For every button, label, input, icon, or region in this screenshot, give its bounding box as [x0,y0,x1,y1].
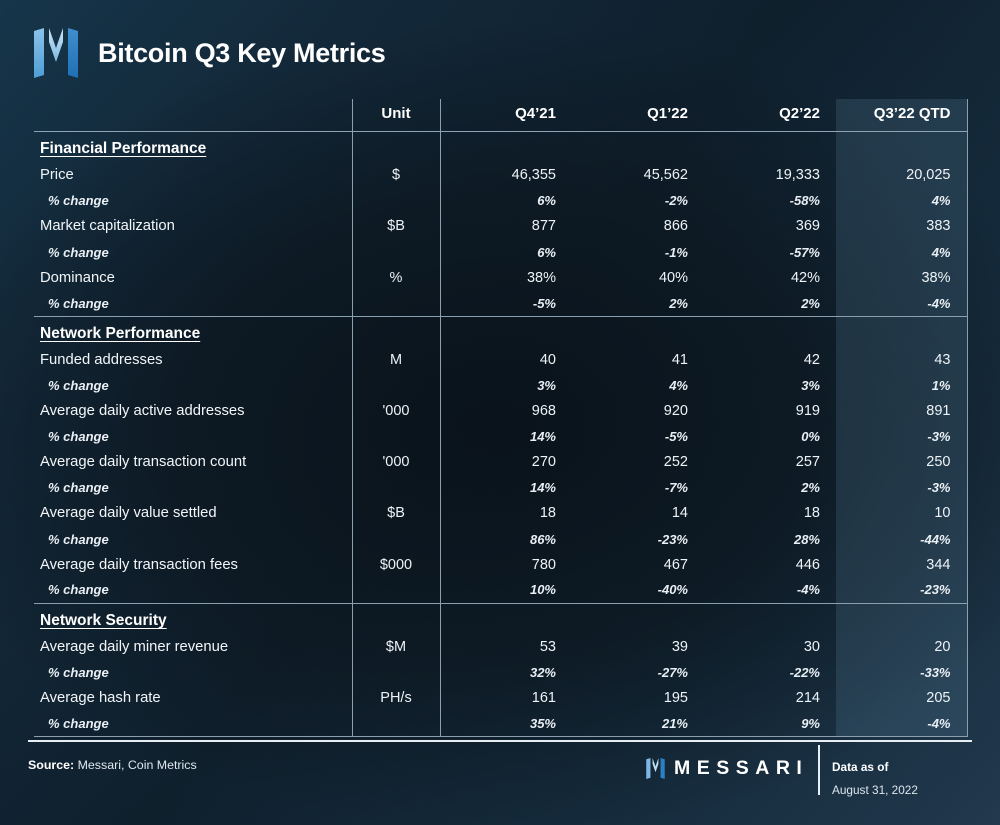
change-value-cell: -22% [704,660,836,686]
table-row: Market capitalization$B877866369383 [34,214,967,240]
data-as-of-label: Data as of [832,760,918,774]
change-label-cell: % change [34,577,352,603]
value-cell: 877 [440,214,572,240]
change-label-cell: % change [34,188,352,214]
value-cell: 161 [440,685,572,711]
unit-cell: $000 [352,552,440,578]
change-value-cell: 3% [704,373,836,399]
section-spacer-cell [572,316,704,347]
change-value-cell: -2% [572,188,704,214]
table-row: Funded addressesM40414243 [34,347,967,373]
footer-brand: MESSARI [646,757,808,780]
page-header: Bitcoin Q3 Key Metrics [34,28,386,78]
value-cell: 344 [836,552,967,578]
value-cell: 19,333 [704,163,836,189]
metric-label-cell: Average daily miner revenue [34,634,352,660]
change-value-cell: 1% [836,373,967,399]
change-value-cell: 21% [572,711,704,737]
change-value-cell: 86% [440,526,572,552]
metric-label-cell: Average daily transaction fees [34,552,352,578]
table-row-change: % change10%-40%-4%-23% [34,577,967,603]
section-header-row: Financial Performance [34,132,967,163]
change-value-cell: 32% [440,660,572,686]
value-cell: 257 [704,449,836,475]
section-spacer-cell [572,603,704,634]
section-title-cell: Network Security [34,603,352,634]
value-cell: 780 [440,552,572,578]
table-row-change: % change35%21%9%-4% [34,711,967,737]
unit-cell [352,526,440,552]
value-cell: 383 [836,214,967,240]
unit-cell [352,577,440,603]
change-value-cell: -33% [836,660,967,686]
metric-label-cell: Dominance [34,265,352,291]
change-label-cell: % change [34,660,352,686]
change-label-cell: % change [34,424,352,450]
value-cell: 41 [572,347,704,373]
table-row-change: % change3%4%3%1% [34,373,967,399]
metrics-table-container: Unit Q4’21 Q1’22 Q2’22 Q3’22 QTD Financi… [34,99,967,737]
section-unit-cell [352,132,440,163]
value-cell: 43 [836,347,967,373]
column-header-unit: Unit [352,99,440,132]
value-cell: 866 [572,214,704,240]
brand-wordmark: MESSARI [674,757,808,780]
footer-divider [28,740,972,742]
change-value-cell: 9% [704,711,836,737]
value-cell: 919 [704,398,836,424]
column-header-q4-21: Q4’21 [440,99,572,132]
value-cell: 18 [440,501,572,527]
metrics-table: Unit Q4’21 Q1’22 Q2’22 Q3’22 QTD Financi… [34,99,968,737]
value-cell: 205 [836,685,967,711]
table-row: Average daily transaction fees$000780467… [34,552,967,578]
change-value-cell: -5% [440,290,572,316]
table-row-change: % change86%-23%28%-44% [34,526,967,552]
change-value-cell: -3% [836,424,967,450]
value-cell: 891 [836,398,967,424]
metric-label-cell: Market capitalization [34,214,352,240]
column-header-q1-22: Q1’22 [572,99,704,132]
table-row: Average hash ratePH/s161195214205 [34,685,967,711]
table-row-change: % change6%-1%-57%4% [34,239,967,265]
value-cell: 195 [572,685,704,711]
section-spacer-cell [704,603,836,634]
value-cell: 39 [572,634,704,660]
value-cell: 45,562 [572,163,704,189]
footer-vertical-divider [818,745,820,795]
data-as-of-date: August 31, 2022 [832,783,918,797]
section-title: Financial Performance [40,140,206,157]
table-row-change: % change6%-2%-58%4% [34,188,967,214]
value-cell: 40% [572,265,704,291]
source-note: Source: Messari, Coin Metrics [28,758,197,772]
infographic-page: Bitcoin Q3 Key Metrics Unit Q4’21 Q1’22 … [0,0,1000,825]
change-value-cell: -23% [836,577,967,603]
change-label-cell: % change [34,239,352,265]
change-value-cell: 2% [704,475,836,501]
unit-cell: % [352,265,440,291]
table-row: Average daily value settled$B18141810 [34,501,967,527]
unit-cell [352,424,440,450]
change-value-cell: -23% [572,526,704,552]
section-unit-cell [352,316,440,347]
value-cell: 38% [440,265,572,291]
column-header-q3-22-qtd: Q3’22 QTD [836,99,967,132]
messari-m-logo-icon [34,28,78,78]
unit-cell [352,290,440,316]
change-value-cell: 2% [572,290,704,316]
column-header-q2-22: Q2’22 [704,99,836,132]
value-cell: 14 [572,501,704,527]
change-value-cell: -4% [704,577,836,603]
unit-cell [352,239,440,265]
unit-cell [352,475,440,501]
table-header: Unit Q4’21 Q1’22 Q2’22 Q3’22 QTD [34,99,967,132]
change-value-cell: -57% [704,239,836,265]
data-as-of-block: Data as of August 31, 2022 [832,760,918,797]
source-value: Messari, Coin Metrics [78,758,197,772]
change-value-cell: -44% [836,526,967,552]
value-cell: 46,355 [440,163,572,189]
table-row-change: % change32%-27%-22%-33% [34,660,967,686]
unit-cell [352,373,440,399]
value-cell: 30 [704,634,836,660]
change-value-cell: 14% [440,424,572,450]
change-value-cell: -1% [572,239,704,265]
source-label: Source: [28,758,74,772]
table-row-change: % change14%-7%2%-3% [34,475,967,501]
metric-label-cell: Price [34,163,352,189]
change-value-cell: 4% [836,239,967,265]
change-value-cell: 10% [440,577,572,603]
header-row: Unit Q4’21 Q1’22 Q2’22 Q3’22 QTD [34,99,967,132]
page-title: Bitcoin Q3 Key Metrics [98,38,386,69]
table-row: Price$46,35545,56219,33320,025 [34,163,967,189]
change-value-cell: 3% [440,373,572,399]
change-value-cell: 6% [440,239,572,265]
unit-cell: M [352,347,440,373]
change-value-cell: -4% [836,711,967,737]
change-value-cell: 4% [572,373,704,399]
change-label-cell: % change [34,373,352,399]
value-cell: 270 [440,449,572,475]
value-cell: 968 [440,398,572,424]
section-spacer-cell [440,132,572,163]
change-value-cell: 14% [440,475,572,501]
table-row: Dominance%38%40%42%38% [34,265,967,291]
value-cell: 40 [440,347,572,373]
value-cell: 214 [704,685,836,711]
metric-label-cell: Average daily active addresses [34,398,352,424]
section-spacer-cell [836,603,967,634]
table-row-change: % change-5%2%2%-4% [34,290,967,316]
unit-cell: PH/s [352,685,440,711]
change-value-cell: 2% [704,290,836,316]
unit-cell: $B [352,214,440,240]
change-value-cell: -40% [572,577,704,603]
unit-cell: $B [352,501,440,527]
unit-cell [352,188,440,214]
metric-label-cell: Average daily transaction count [34,449,352,475]
unit-cell: $M [352,634,440,660]
section-spacer-cell [572,132,704,163]
table-row: Average daily transaction count'00027025… [34,449,967,475]
unit-cell [352,660,440,686]
table-row: Average daily active addresses'000968920… [34,398,967,424]
section-unit-cell [352,603,440,634]
value-cell: 252 [572,449,704,475]
value-cell: 446 [704,552,836,578]
column-header-blank [34,99,352,132]
value-cell: 20 [836,634,967,660]
value-cell: 250 [836,449,967,475]
section-spacer-cell [836,316,967,347]
section-title-cell: Network Performance [34,316,352,347]
unit-cell: '000 [352,398,440,424]
change-label-cell: % change [34,290,352,316]
change-value-cell: -58% [704,188,836,214]
section-spacer-cell [704,316,836,347]
metric-label-cell: Average daily value settled [34,501,352,527]
value-cell: 920 [572,398,704,424]
change-value-cell: -4% [836,290,967,316]
change-value-cell: 6% [440,188,572,214]
section-spacer-cell [704,132,836,163]
value-cell: 20,025 [836,163,967,189]
section-spacer-cell [836,132,967,163]
section-title-cell: Financial Performance [34,132,352,163]
change-value-cell: 0% [704,424,836,450]
messari-m-logo-icon [646,758,665,779]
change-value-cell: -7% [572,475,704,501]
value-cell: 53 [440,634,572,660]
section-spacer-cell [440,603,572,634]
section-header-row: Network Performance [34,316,967,347]
section-title: Network Performance [40,325,200,342]
unit-cell: '000 [352,449,440,475]
change-value-cell: 28% [704,526,836,552]
change-value-cell: -3% [836,475,967,501]
value-cell: 369 [704,214,836,240]
change-value-cell: -27% [572,660,704,686]
section-header-row: Network Security [34,603,967,634]
metric-label-cell: Funded addresses [34,347,352,373]
change-label-cell: % change [34,526,352,552]
unit-cell: $ [352,163,440,189]
table-body: Financial PerformancePrice$46,35545,5621… [34,132,967,737]
table-row: Average daily miner revenue$M53393020 [34,634,967,660]
change-value-cell: 35% [440,711,572,737]
value-cell: 42 [704,347,836,373]
value-cell: 18 [704,501,836,527]
value-cell: 10 [836,501,967,527]
section-title: Network Security [40,612,167,629]
change-label-cell: % change [34,711,352,737]
change-label-cell: % change [34,475,352,501]
change-value-cell: 4% [836,188,967,214]
change-value-cell: -5% [572,424,704,450]
table-row-change: % change14%-5%0%-3% [34,424,967,450]
value-cell: 38% [836,265,967,291]
value-cell: 42% [704,265,836,291]
unit-cell [352,711,440,737]
metric-label-cell: Average hash rate [34,685,352,711]
section-spacer-cell [440,316,572,347]
value-cell: 467 [572,552,704,578]
